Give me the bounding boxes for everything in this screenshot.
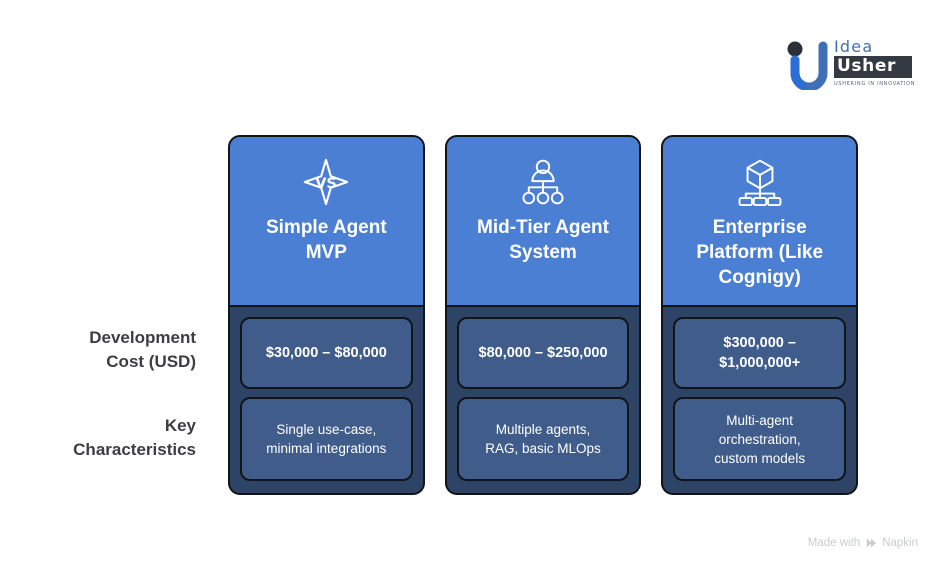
column-title: Mid-Tier Agent System bbox=[467, 209, 619, 265]
row-label-key-characteristics: Key Characteristics bbox=[0, 414, 196, 462]
cost-line2: $1,000,000+ bbox=[719, 353, 800, 373]
cell-development-cost: $30,000 – $80,000 bbox=[240, 317, 413, 389]
chars-line1: Single use-case, bbox=[266, 420, 386, 439]
column-body: $30,000 – $80,000 Single use-case, minim… bbox=[230, 307, 423, 493]
logo-usher-text: Usher bbox=[834, 56, 912, 78]
column-mid-tier-agent-system[interactable]: Mid-Tier Agent System $80,000 – $250,000… bbox=[445, 135, 642, 495]
idea-usher-u-mark-icon bbox=[786, 40, 832, 90]
cell-key-characteristics: Single use-case, minimal integrations bbox=[240, 397, 413, 481]
column-title-line2: System bbox=[477, 240, 609, 265]
logo-wordmark: Idea Usher USHERING IN INNOVATION bbox=[834, 38, 912, 88]
cell-development-cost: $80,000 – $250,000 bbox=[457, 317, 630, 389]
column-header: Enterprise Platform (Like Cognigy) bbox=[663, 137, 856, 307]
column-body: $80,000 – $250,000 Multiple agents, RAG,… bbox=[447, 307, 640, 493]
row-label-line1: Key bbox=[0, 414, 196, 438]
made-with-napkin-footer: Made with Napkin bbox=[808, 537, 918, 549]
org-chart-person-icon bbox=[519, 155, 567, 209]
napkin-chevron-icon bbox=[865, 537, 877, 549]
column-title-line2: Platform (Like bbox=[696, 240, 823, 265]
column-title-line3: Cognigy) bbox=[696, 265, 823, 290]
cell-key-characteristics: Multiple agents, RAG, basic MLOps bbox=[457, 397, 630, 481]
row-label-development-cost: Development Cost (USD) bbox=[0, 326, 196, 374]
cube-hierarchy-icon bbox=[736, 155, 784, 209]
logo-idea-text: Idea bbox=[834, 38, 912, 55]
row-label-line1: Development bbox=[0, 326, 196, 350]
cell-development-cost: $300,000 – $1,000,000+ bbox=[673, 317, 846, 389]
column-title-line2: MVP bbox=[266, 240, 387, 265]
column-title-line1: Simple Agent bbox=[266, 215, 387, 240]
cost-line1: $80,000 – $250,000 bbox=[479, 343, 608, 363]
cost-line1: $30,000 – $80,000 bbox=[266, 343, 387, 363]
footer-napkin-brand: Napkin bbox=[882, 537, 918, 549]
chars-line1: Multiple agents, bbox=[485, 420, 601, 439]
column-title: Enterprise Platform (Like Cognigy) bbox=[686, 209, 833, 290]
column-title-line1: Enterprise bbox=[696, 215, 823, 240]
column-enterprise-platform[interactable]: Enterprise Platform (Like Cognigy) $300,… bbox=[661, 135, 858, 495]
column-simple-agent-mvp[interactable]: VS Simple Agent MVP $30,000 – $80,000 Si… bbox=[228, 135, 425, 495]
column-header: Mid-Tier Agent System bbox=[447, 137, 640, 307]
row-labels-column: Development Cost (USD) Key Characteristi… bbox=[0, 0, 196, 567]
comparison-columns: VS Simple Agent MVP $30,000 – $80,000 Si… bbox=[228, 135, 858, 495]
column-title-line1: Mid-Tier Agent bbox=[477, 215, 609, 240]
svg-text:VS: VS bbox=[316, 176, 338, 192]
row-label-line2: Characteristics bbox=[0, 438, 196, 462]
chars-line2: minimal integrations bbox=[266, 439, 386, 458]
chars-line2: orchestration, bbox=[714, 430, 805, 449]
row-label-line2: Cost (USD) bbox=[0, 350, 196, 374]
chars-line1: Multi-agent bbox=[714, 411, 805, 430]
chars-line3: custom models bbox=[714, 449, 805, 468]
column-body: $300,000 – $1,000,000+ Multi-agent orche… bbox=[663, 307, 856, 493]
cell-key-characteristics: Multi-agent orchestration, custom models bbox=[673, 397, 846, 481]
sparkle-star-vs-icon: VS bbox=[301, 155, 351, 209]
logo-tagline: USHERING IN INNOVATION bbox=[834, 80, 912, 88]
column-title: Simple Agent MVP bbox=[256, 209, 397, 265]
column-header: VS Simple Agent MVP bbox=[230, 137, 423, 307]
chars-line2: RAG, basic MLOps bbox=[485, 439, 601, 458]
idea-usher-logo: Idea Usher USHERING IN INNOVATION bbox=[786, 38, 912, 94]
footer-made-with-text: Made with bbox=[808, 537, 860, 549]
cost-line1: $300,000 – bbox=[719, 333, 800, 353]
